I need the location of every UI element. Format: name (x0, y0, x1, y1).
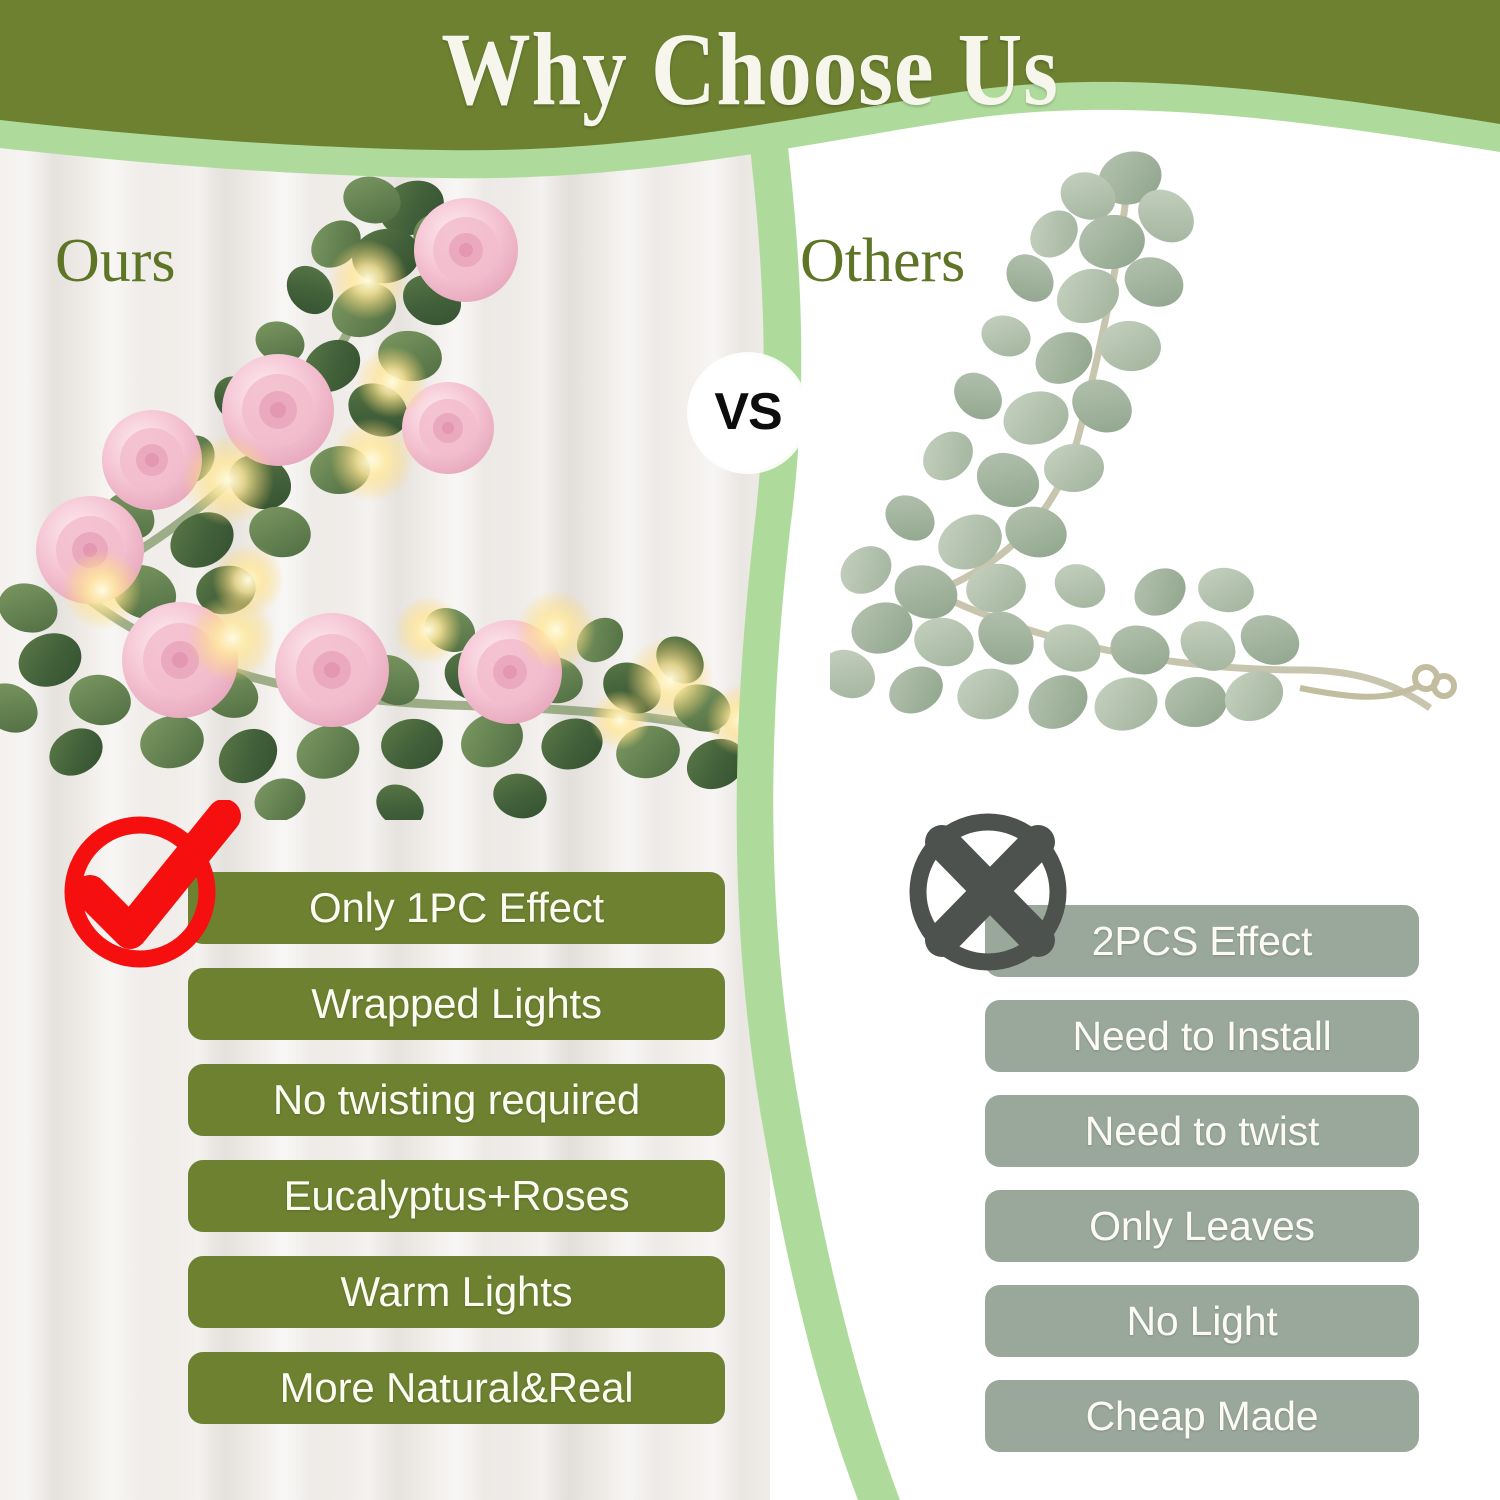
right-feature-pill[interactable]: Only Leaves (985, 1190, 1419, 1262)
page-title: Why Choose Us (105, 14, 1395, 126)
left-feature-list: Only 1PC Effect Wrapped Lights No twisti… (188, 872, 725, 1424)
vs-badge: VS (690, 355, 806, 471)
right-feature-pill[interactable]: Need to twist (985, 1095, 1419, 1167)
check-circle-icon (52, 800, 242, 975)
right-feature-pill[interactable]: No Light (985, 1285, 1419, 1357)
left-feature-pill[interactable]: Only 1PC Effect (188, 872, 725, 944)
header-banner: Why Choose Us (0, 0, 1500, 235)
right-panel-label: Others (800, 228, 965, 294)
left-feature-pill[interactable]: No twisting required (188, 1064, 725, 1136)
right-feature-pill[interactable]: Need to Install (985, 1000, 1419, 1072)
left-feature-pill[interactable]: Wrapped Lights (188, 968, 725, 1040)
why-choose-us-infographic: Why Choose Us Ours Others VS Only 1PC Ef… (0, 0, 1500, 1500)
right-feature-list: 2PCS Effect Need to Install Need to twis… (985, 905, 1419, 1452)
cross-circle-icon (898, 800, 1078, 980)
right-feature-pill[interactable]: Cheap Made (985, 1380, 1419, 1452)
left-feature-pill[interactable]: More Natural&Real (188, 1352, 725, 1424)
left-feature-pill[interactable]: Eucalyptus+Roses (188, 1160, 725, 1232)
vs-label: VS (714, 382, 781, 442)
left-panel-label: Ours (55, 228, 176, 294)
left-feature-pill[interactable]: Warm Lights (188, 1256, 725, 1328)
